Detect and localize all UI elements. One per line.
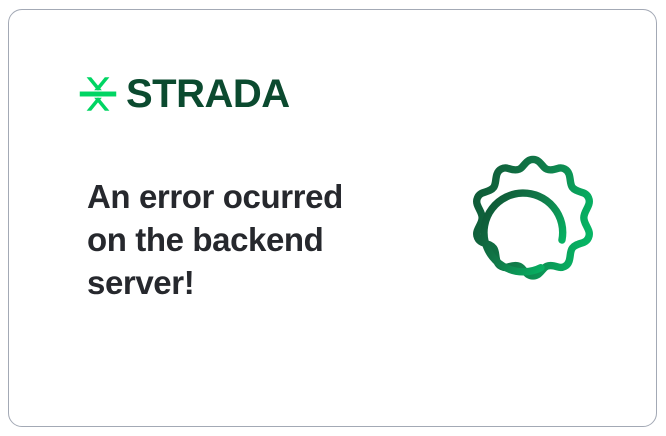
brand-wordmark: STRADA <box>126 74 290 114</box>
brand-lockup: STRADA <box>79 74 290 114</box>
gear-icon <box>451 148 615 312</box>
error-card: STRADA An error ocurred on the backend s… <box>8 9 657 427</box>
strada-asterisk-icon <box>79 75 117 113</box>
error-headline: An error ocurred on the backend server! <box>87 176 387 305</box>
